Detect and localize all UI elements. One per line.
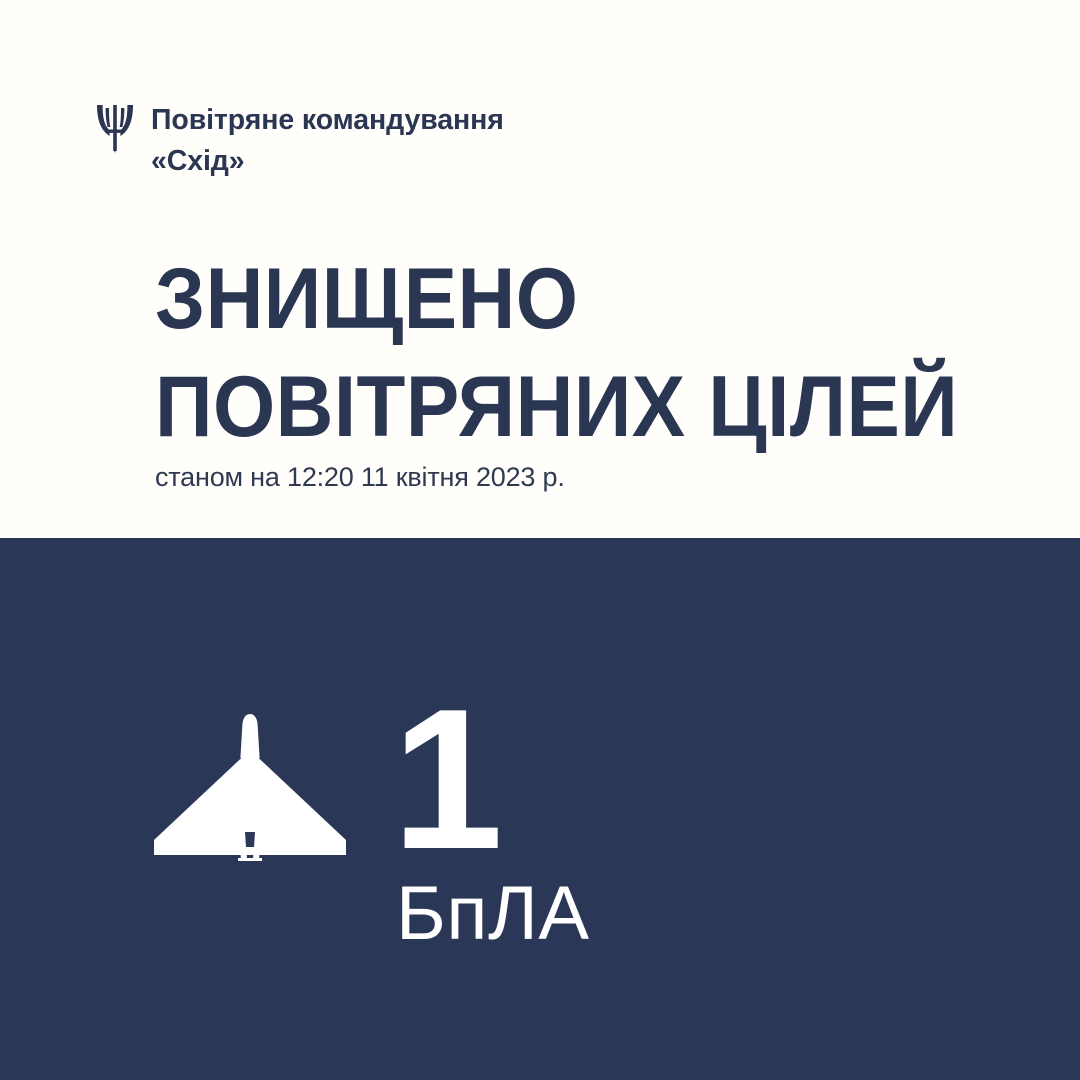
headline-line-2: ПОВІТРЯНИХ ЦІЛЕЙ — [155, 364, 899, 452]
stat-figures: 1 БпЛА — [392, 698, 590, 952]
bottom-panel: 1 БпЛА — [0, 538, 1080, 1080]
page-title: ЗНИЩЕНО ПОВІТРЯНИХ ЦІЛЕЙ — [155, 256, 899, 451]
stat-count: 1 — [392, 698, 590, 862]
poster-root: Повітряне командування «Схід» ЗНИЩЕНО ПО… — [0, 0, 1080, 1080]
headline-line-1: ЗНИЩЕНО — [155, 256, 899, 344]
top-panel: Повітряне командування «Схід» ЗНИЩЕНО ПО… — [0, 0, 1080, 538]
stat-label: БпЛА — [396, 876, 590, 952]
stat-item: 1 БпЛА — [150, 698, 590, 952]
drone-shahed-icon — [150, 712, 350, 862]
brand-block: Повітряне командування «Схід» — [95, 100, 504, 182]
brand-name: Повітряне командування «Схід» — [151, 100, 504, 182]
timestamp-subtitle: станом на 12:20 11 квітня 2023 р. — [155, 462, 565, 493]
ukrainian-trident-icon — [95, 103, 135, 153]
